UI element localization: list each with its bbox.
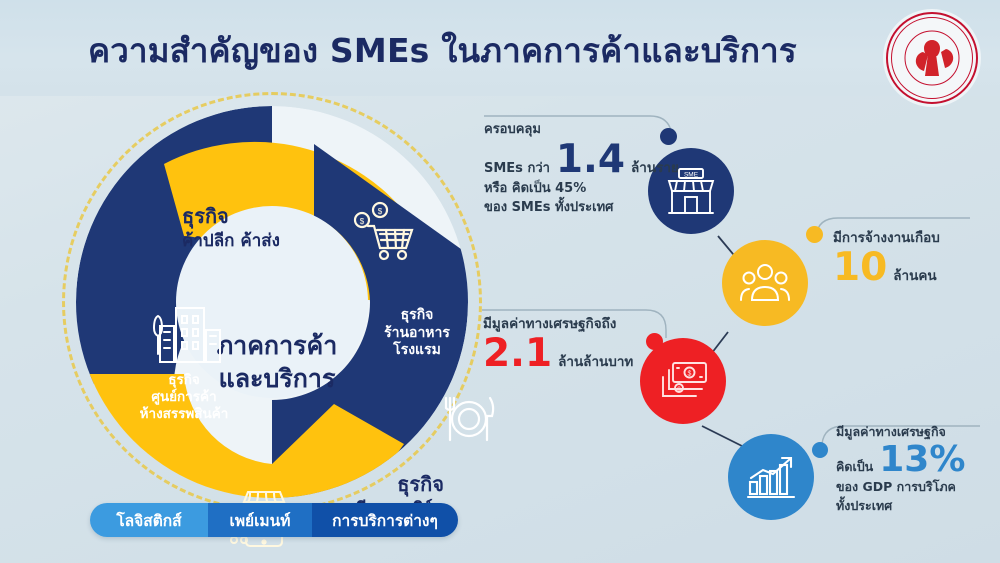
connector-dot-employment — [806, 226, 823, 243]
employment-node — [722, 240, 808, 326]
connector-dot-gdp-share — [812, 442, 828, 458]
logo-ring — [891, 17, 973, 99]
wheel-segments — [74, 104, 470, 500]
stat-coverage-post2: ของ SMEs ทั้งประเทศ — [484, 198, 679, 218]
tag-payment[interactable]: เพย์เมนท์ — [208, 503, 312, 537]
tag-logistics[interactable]: โลจิสติกส์ — [90, 503, 208, 537]
service-tags-bar: โลจิสติกส์ เพย์เมนท์ การบริการต่างๆ — [90, 503, 458, 537]
svg-text:SME: SME — [684, 172, 699, 179]
gdp-share-node — [728, 434, 814, 520]
stat-gdp-share: มีมูลค่าทางเศรษฐกิจ คิดเป็น 13% ของ GDP … — [836, 423, 1000, 515]
stat-coverage-value: 1.4 — [556, 140, 625, 179]
stat-gdp-share-post1: ของ GDP การบริโภค — [836, 478, 1000, 497]
stat-gdp-share-pre2: คิดเป็น — [836, 458, 873, 477]
page-title: ความสำคัญของ SMEs ในภาคการค้าและบริการ — [88, 24, 828, 77]
stat-employment-unit: ล้านคน — [893, 264, 936, 286]
tag-services[interactable]: การบริการต่างๆ — [312, 503, 458, 537]
stat-coverage: ครอบคลุม SMEs กว่า 1.4 ล้านราย หรือ คิดเ… — [484, 120, 679, 218]
trade-service-sector-wheel: ธุรกิจ ค้าปลีก ค้าส่ง ธุรกิจ ร้านอาหาร โ… — [62, 92, 482, 512]
stat-coverage-pre2: SMEs กว่า — [484, 159, 550, 179]
stat-economic-value-value: 2.1 — [483, 334, 552, 373]
svg-text:$: $ — [688, 371, 692, 378]
stat-coverage-unit: ล้านราย — [631, 156, 679, 178]
stat-economic-value: มีมูลค่าทางเศรษฐกิจถึง 2.1 ล้านล้านบาท — [483, 314, 683, 373]
stat-gdp-share-value: 13% — [879, 442, 965, 478]
stat-employment: มีการจ้างงานเกือบ 10 ล้านคน — [833, 228, 993, 287]
thai-retailers-association-logo: สมาคมผู้ค้าปลีกไทย THAI RETAILERS ASSOCI… — [886, 12, 978, 104]
stat-coverage-post1: หรือ คิดเป็น 45% — [484, 179, 679, 199]
stat-gdp-share-post2: ทั้งประเทศ — [836, 497, 1000, 516]
stat-economic-value-unit: ล้านล้านบาท — [558, 350, 633, 372]
stat-employment-value: 10 — [833, 248, 887, 287]
header-bar: ความสำคัญของ SMEs ในภาคการค้าและบริการ ส… — [0, 0, 1000, 96]
growth-chart-icon — [746, 454, 796, 500]
people-group-icon — [740, 262, 790, 304]
